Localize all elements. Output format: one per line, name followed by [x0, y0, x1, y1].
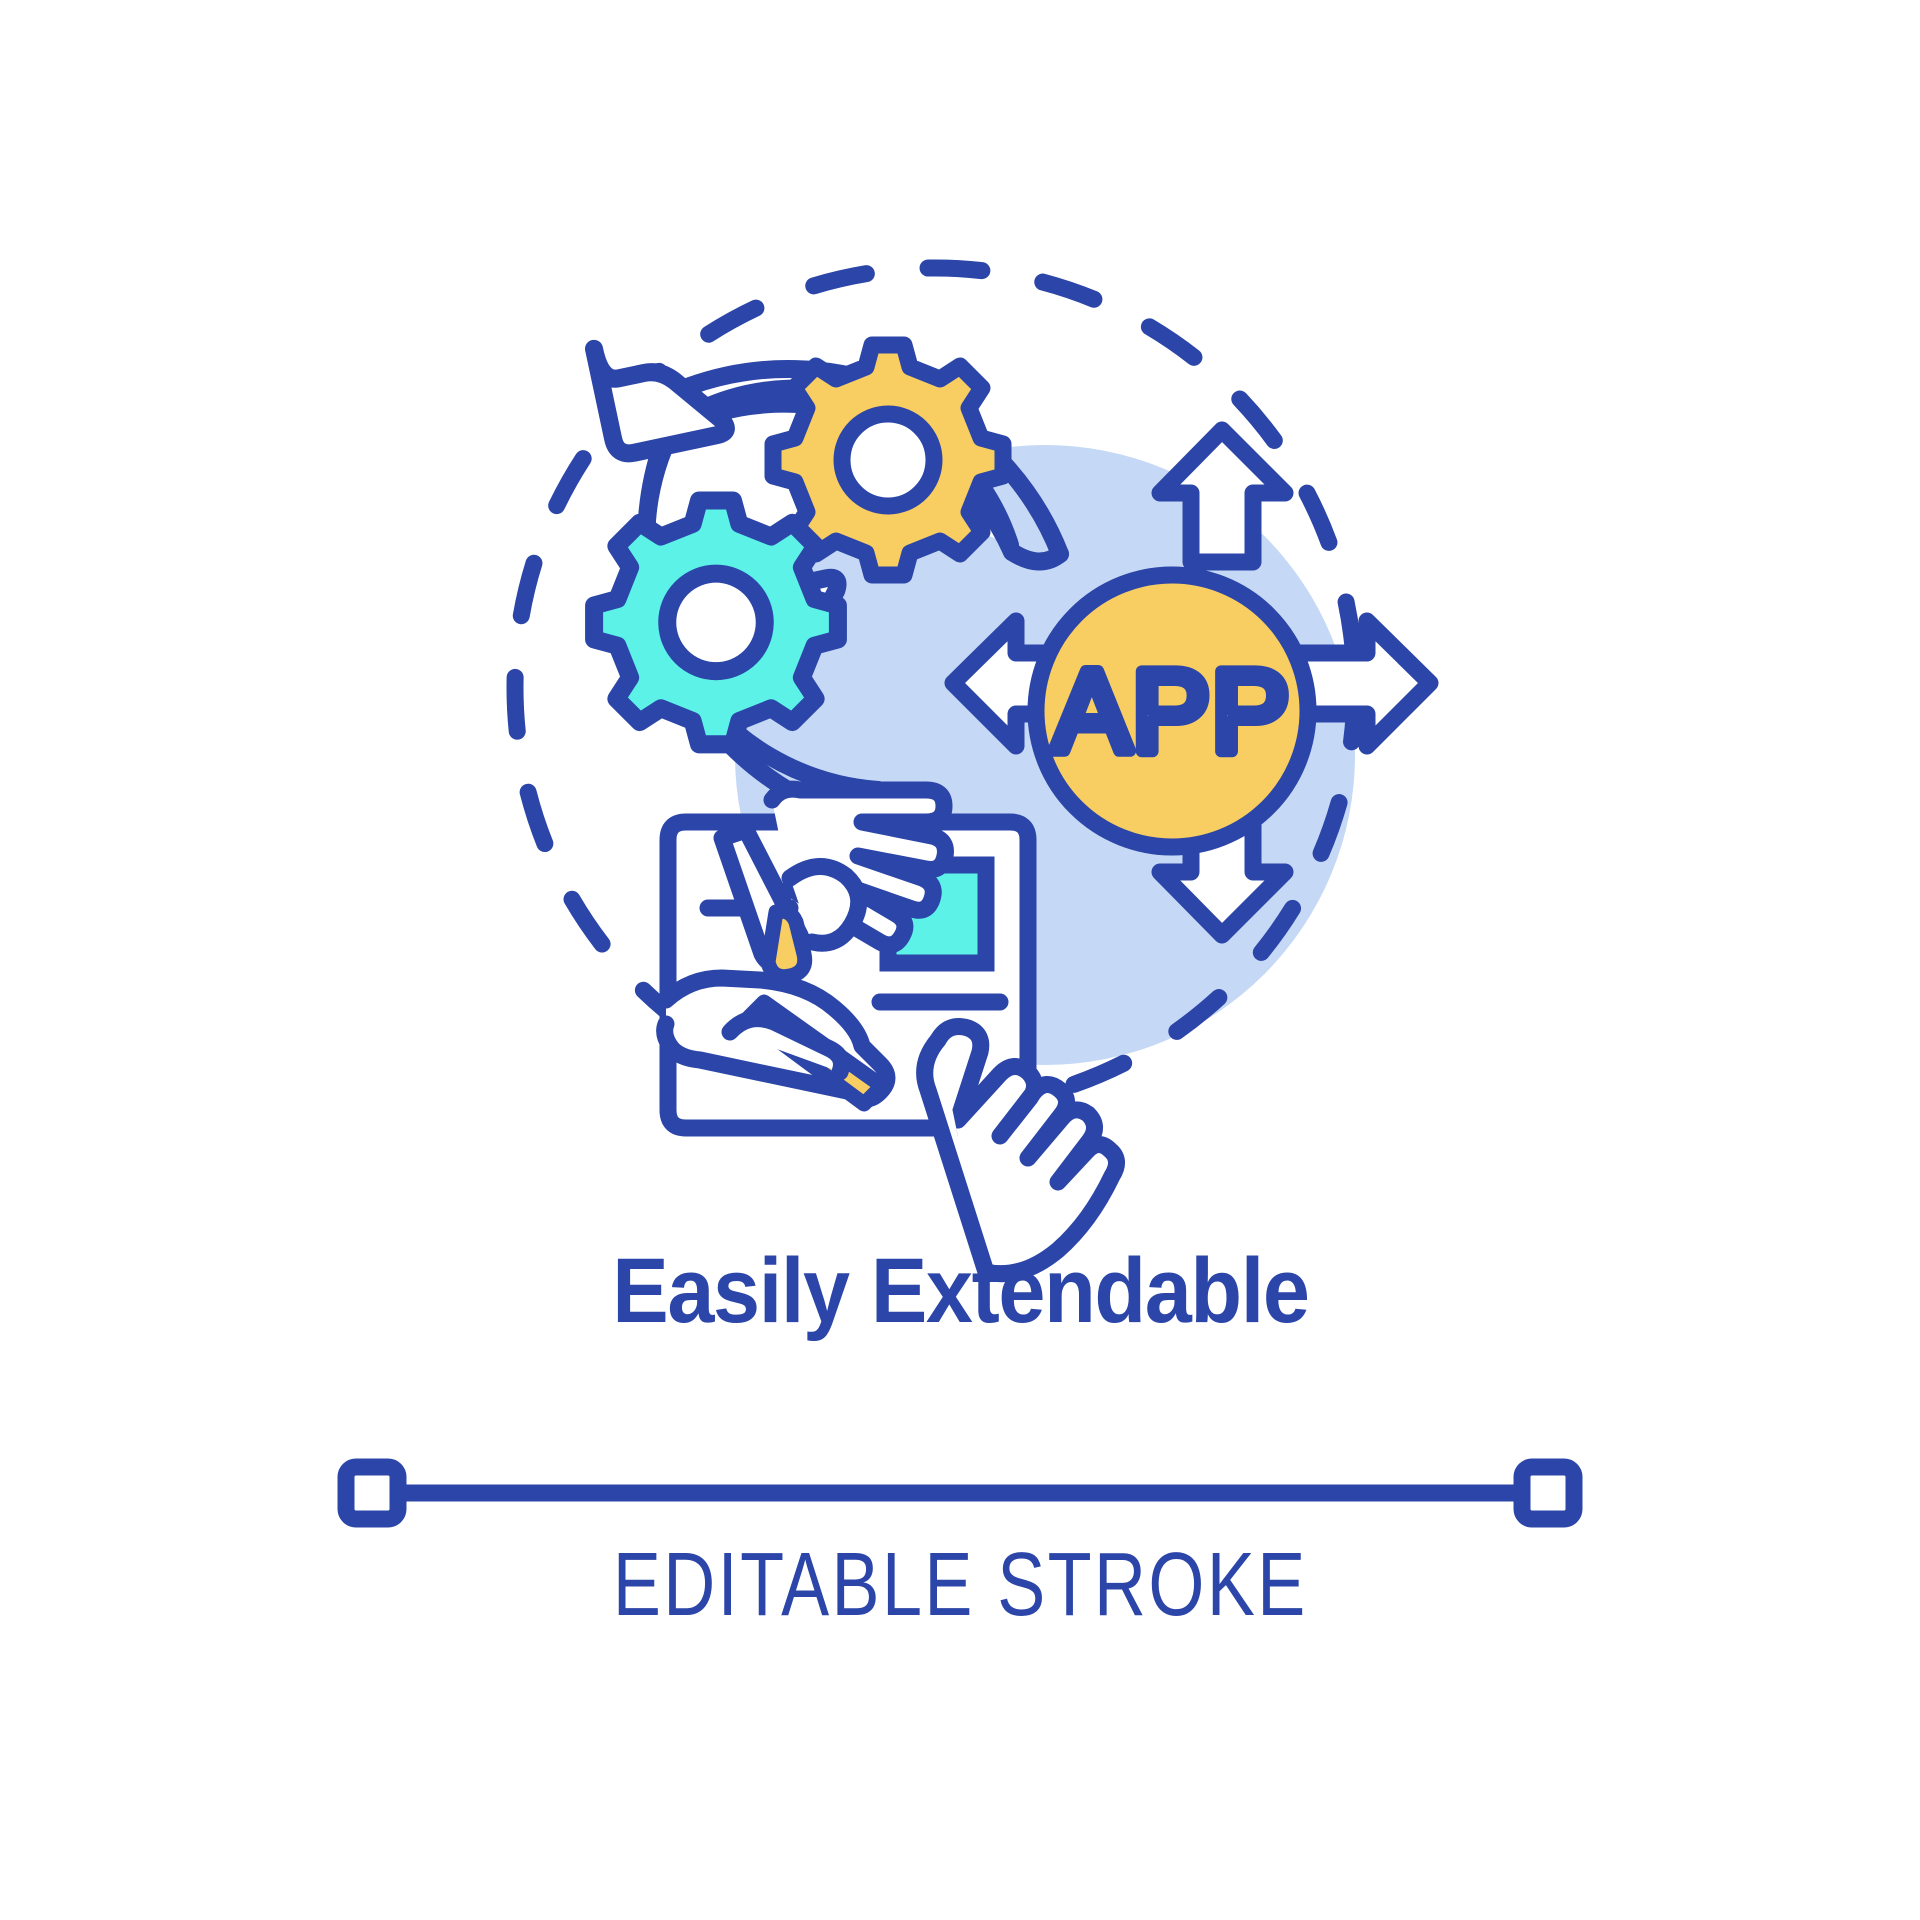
illustration-area: APP — [0, 0, 1920, 1300]
app-circle-badge: APP — [1036, 575, 1308, 847]
editable-stroke-caption: EDITABLE STROKE — [613, 1540, 1308, 1630]
pointing-hand — [925, 1027, 1117, 1274]
square-handle-right[interactable] — [1522, 1467, 1574, 1519]
title-block: Easily Extendable — [0, 1245, 1920, 1337]
caption-block: EDITABLE STROKE — [0, 1540, 1920, 1630]
cyan-gear — [594, 501, 838, 745]
page-title: Easily Extendable — [612, 1245, 1308, 1337]
app-label: APP — [1053, 646, 1291, 776]
concept-icon-page: APP — [0, 0, 1920, 1920]
square-handle-left[interactable] — [346, 1467, 398, 1519]
stroke-width-indicator — [0, 1448, 1920, 1538]
